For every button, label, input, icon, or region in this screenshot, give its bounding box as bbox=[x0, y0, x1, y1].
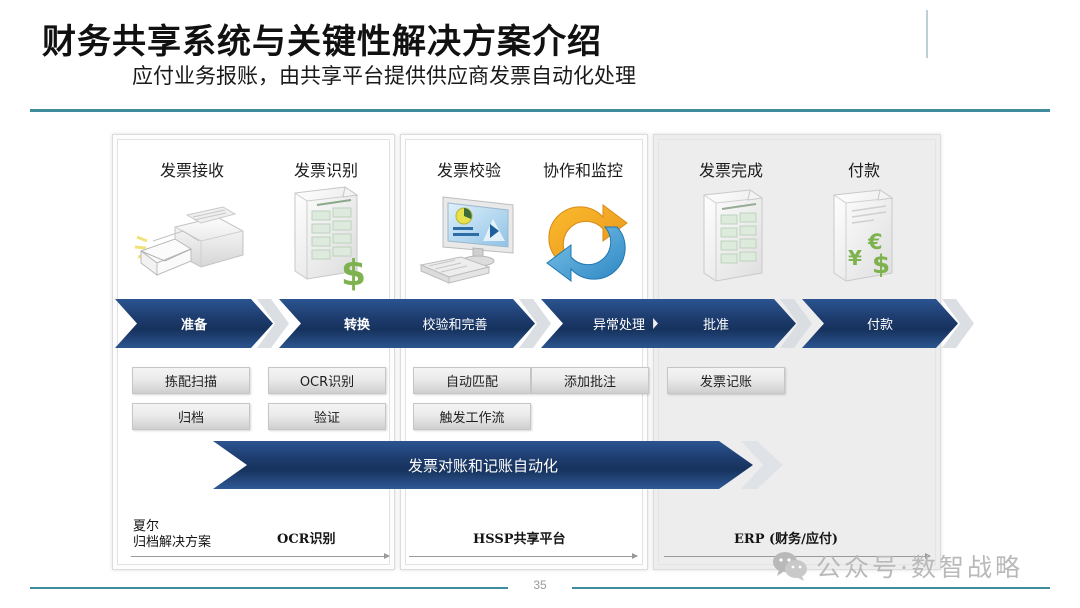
stage-chevron-payment[interactable]: 付款 bbox=[802, 299, 958, 348]
footer-line-left bbox=[30, 587, 508, 589]
button-pick-scan[interactable]: 拣配扫描 bbox=[132, 367, 250, 394]
button-auto-match[interactable]: 自动匹配 bbox=[413, 367, 531, 394]
footer-flow-arrow bbox=[664, 556, 930, 557]
stage-chevron-approve[interactable]: 批准 bbox=[636, 299, 796, 348]
button-archive[interactable]: 归档 bbox=[132, 403, 250, 430]
footer-label-ocr: OCR识别 bbox=[277, 532, 335, 548]
currency-document-icon: € ¥ $ bbox=[822, 189, 904, 289]
button-add-comment[interactable]: 添加批注 bbox=[531, 367, 649, 394]
invoice-document-icon bbox=[692, 189, 774, 289]
footer-flow-arrow bbox=[409, 556, 637, 557]
scanner-envelopes-icon bbox=[131, 193, 255, 291]
button-invoice-booking[interactable]: 发票记账 bbox=[667, 367, 785, 394]
column-heading-invoice-recognize: 发票识别 bbox=[261, 157, 391, 181]
column-heading-collab-monitor: 协作和监控 bbox=[523, 157, 643, 181]
page-subtitle: 应付业务报账，由共享平台提供供应商发票自动化处理 bbox=[132, 60, 636, 90]
footer-label-erp: ERP (财务/应付) bbox=[734, 532, 838, 548]
footer-flow-arrow bbox=[131, 556, 389, 557]
invoice-dollar-icon: $ bbox=[273, 185, 377, 291]
button-trigger-workflow[interactable]: 触发工作流 bbox=[413, 403, 531, 430]
panel-invoice-intake: 发票接收 发票识别 bbox=[112, 134, 395, 570]
footer-line-right bbox=[572, 587, 1050, 589]
automation-arrow[interactable]: 发票对账和记账自动化 bbox=[213, 441, 753, 489]
column-heading-invoice-complete: 发票完成 bbox=[664, 157, 798, 181]
footer-label-hssp: HSSP共享平台 bbox=[473, 532, 566, 548]
panel-invoice-verification: 发票校验 协作和监控 bbox=[400, 134, 648, 570]
column-heading-invoice-check: 发票校验 bbox=[409, 157, 529, 181]
header-divider-line bbox=[30, 109, 1050, 112]
stage-chevron-verify-complete[interactable]: 校验和完善 bbox=[375, 299, 535, 348]
panel-invoice-completion: 发票完成 付款 bbox=[653, 134, 941, 570]
monitor-keyboard-icon bbox=[417, 191, 527, 291]
button-verify[interactable]: 验证 bbox=[268, 403, 386, 430]
button-ocr-recognition[interactable]: OCR识别 bbox=[268, 367, 386, 394]
stage-chevron-prepare[interactable]: 准备 bbox=[115, 299, 273, 348]
svg-text:$: $ bbox=[872, 250, 890, 280]
slide-canvas: 财务共享系统与关键性解决方案介绍 应付业务报账，由共享平台提供供应商发票自动化处… bbox=[0, 0, 1080, 608]
sync-arrows-icon bbox=[537, 193, 637, 289]
footer-label-shire-archive: 夏尔 归档解决方案 bbox=[133, 519, 211, 552]
svg-text:¥: ¥ bbox=[848, 246, 862, 270]
svg-text:$: $ bbox=[341, 253, 366, 291]
page-title: 财务共享系统与关键性解决方案介绍 bbox=[42, 14, 602, 63]
page-number: 35 bbox=[508, 578, 572, 592]
column-heading-payment: 付款 bbox=[804, 157, 924, 181]
column-heading-invoice-receive: 发票接收 bbox=[127, 157, 257, 181]
header-vertical-rule bbox=[926, 10, 928, 58]
